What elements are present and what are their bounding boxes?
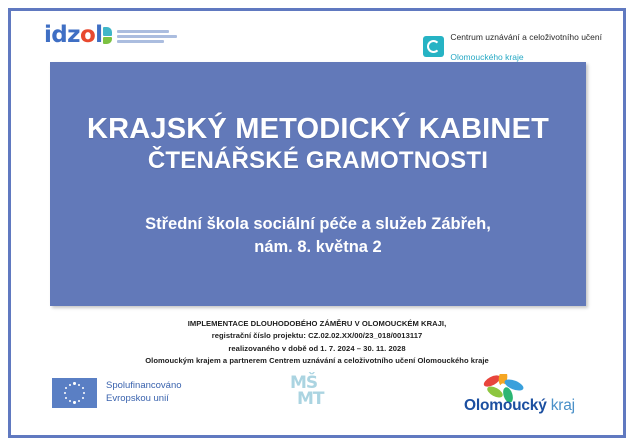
olomoucky-kraj-suffix: kraj: [551, 397, 575, 414]
idzol-text-part-1: idz: [44, 22, 80, 48]
centrum-uznavani-line1: Centrum uznávání a celoživotního učení: [450, 32, 602, 42]
fineprint-line4: Olomouckým krajem a partnerem Centrem uz…: [0, 355, 634, 367]
eu-funding-line2: Evropskou unií: [106, 393, 169, 404]
page-subtitle: ČTENÁŘSKÉ GRAMOTNOSTI: [50, 148, 586, 174]
olomoucky-kraj-name: Olomoucký: [464, 397, 547, 414]
poster-page: idzol Centrum uznávání a celoživotního u…: [0, 0, 634, 446]
idzol-wordmark: idzol: [44, 24, 112, 47]
organisation-name: Střední škola sociální péče a služeb Záb…: [50, 213, 586, 260]
olomoucky-kraj-logo: Olomoucký kraj: [454, 374, 594, 416]
centrum-uznavani-line2: Olomouckého kraje: [450, 52, 523, 62]
title-panel: KRAJSKÝ METODICKÝ KABINET ČTENÁŘSKÉ GRAM…: [50, 62, 586, 306]
centrum-uznavani-logo: Centrum uznávání a celoživotního učení O…: [423, 26, 602, 66]
centrum-uznavani-text: Centrum uznávání a celoživotního učení O…: [450, 26, 602, 66]
eu-funding-text: Spolufinancováno Evropskou unií: [106, 380, 182, 405]
header: idzol Centrum uznávání a celoživotního u…: [22, 20, 612, 62]
msmt-line2: MT: [290, 392, 344, 408]
footer-logos: Spolufinancováno Evropskou unií MŠ MT Ol…: [0, 370, 634, 420]
idzol-leaf-mark-icon: [103, 27, 112, 44]
organisation-line1: Střední škola sociální péče a služeb Záb…: [145, 215, 491, 233]
refresh-circle-icon: [423, 36, 444, 57]
eu-funding-line1: Spolufinancováno: [106, 380, 182, 391]
fineprint-line2: registrační číslo projektu: CZ.02.02.XX/…: [0, 330, 634, 342]
msmt-logo-icon: MŠ MT: [290, 376, 344, 410]
project-fineprint: IMPLEMENTACE DLOUHODOBÉHO ZÁMĚRU V OLOMO…: [0, 318, 634, 367]
eu-funding-logo: Spolufinancováno Evropskou unií: [52, 378, 182, 408]
idzol-logo: idzol: [44, 24, 177, 47]
idzol-text-part-3: l: [95, 22, 102, 48]
fineprint-line3: realizovaného v době od 1. 7. 2024 – 30.…: [0, 343, 634, 355]
idzol-subtitle-lines: [117, 28, 177, 43]
olomoucky-kraj-wordmark: Olomoucký kraj: [464, 397, 575, 415]
idzol-text-part-2: o: [80, 22, 95, 48]
page-title: KRAJSKÝ METODICKÝ KABINET: [50, 114, 586, 145]
eu-flag-icon: [52, 378, 97, 408]
fineprint-line1: IMPLEMENTACE DLOUHODOBÉHO ZÁMĚRU V OLOMO…: [0, 318, 634, 330]
organisation-line2: nám. 8. května 2: [254, 238, 381, 256]
